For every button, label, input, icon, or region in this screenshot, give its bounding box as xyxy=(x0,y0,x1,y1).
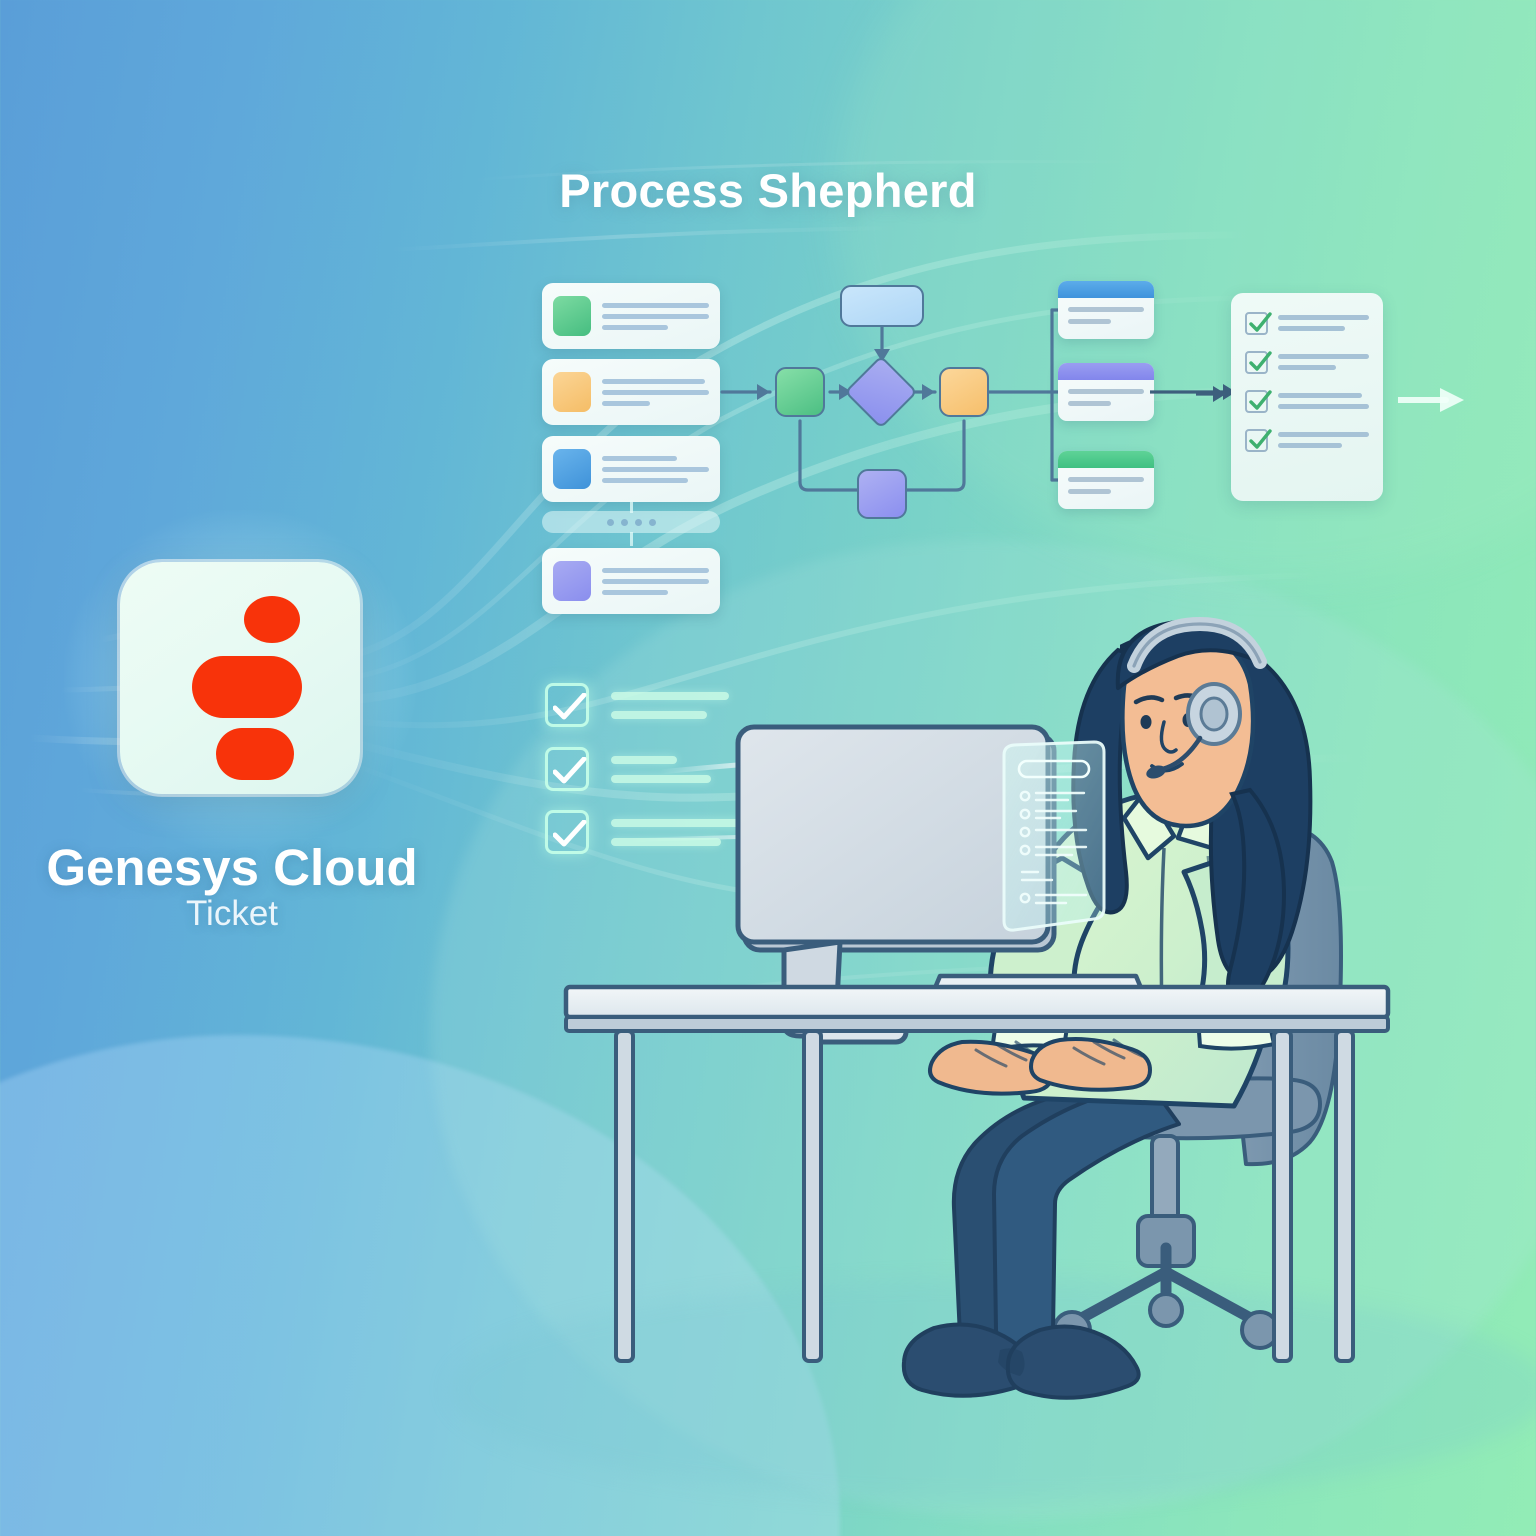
holographic-ui-panel xyxy=(1004,742,1104,930)
desk-leg xyxy=(1336,1031,1353,1361)
agent-hands xyxy=(930,1039,1150,1094)
desk-leg xyxy=(804,1031,821,1361)
call-center-agent-scene xyxy=(0,0,1536,1536)
desk-leg xyxy=(616,1031,633,1361)
desk-leg xyxy=(1274,1031,1291,1361)
illustration-canvas: Process Shepherd Genesys Cloud Ticket xyxy=(0,0,1536,1536)
